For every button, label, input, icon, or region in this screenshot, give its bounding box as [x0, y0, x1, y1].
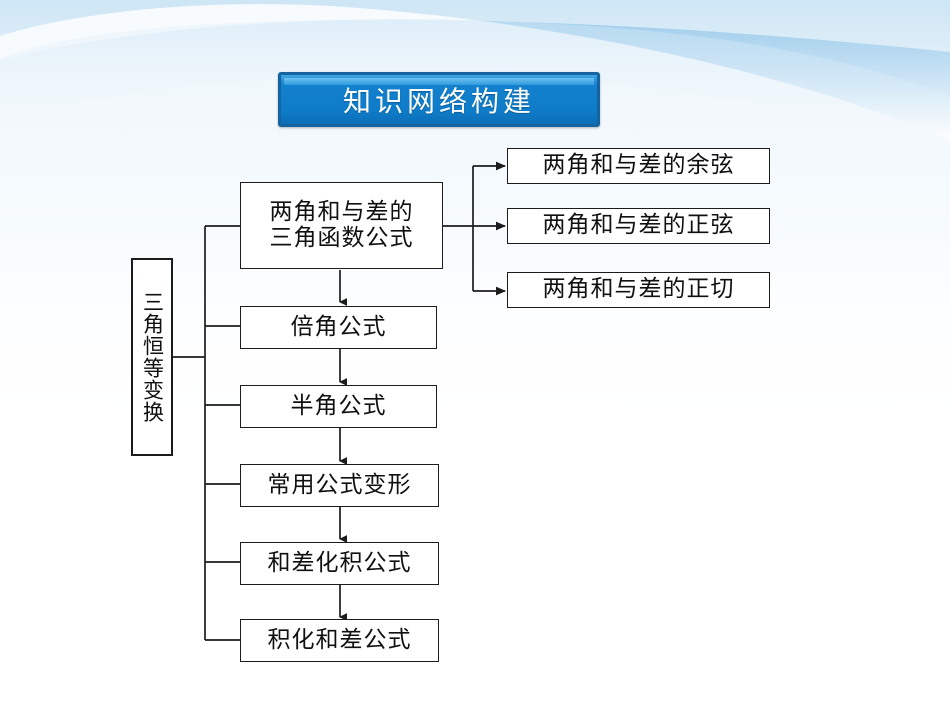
diagram-branch-sine-of-sum-difference[interactable]: 两角和与差的正弦	[507, 208, 770, 244]
diagram-node-trig-sum-difference-formulas[interactable]: 两角和与差的 三角函数公式	[240, 182, 443, 269]
node-label: 和差化积公式	[268, 551, 412, 577]
slide-canvas: 知识网络构建	[0, 0, 950, 713]
node-label: 两角和与差的正切	[543, 277, 735, 303]
diagram-branch-cosine-of-sum-difference[interactable]: 两角和与差的余弦	[507, 148, 770, 184]
node-label: 倍角公式	[291, 315, 387, 341]
diagram-node-product-to-sum-formula[interactable]: 积化和差公式	[240, 619, 439, 662]
diagram-node-half-angle-formula[interactable]: 半角公式	[240, 385, 437, 428]
diagram-node-sum-to-product-formula[interactable]: 和差化积公式	[240, 542, 439, 585]
node-label: 两角和与差的正弦	[543, 213, 735, 239]
diagram-node-double-angle-formula[interactable]: 倍角公式	[240, 306, 437, 349]
node-label: 积化和差公式	[268, 628, 412, 654]
diagram-node-common-formula-transformations[interactable]: 常用公式变形	[240, 464, 439, 507]
diagram-branch-tangent-of-sum-difference[interactable]: 两角和与差的正切	[507, 272, 770, 308]
page-title: 知识网络构建	[343, 80, 535, 120]
diagram-root-node[interactable]: 三角恒等变换	[131, 258, 173, 456]
node-label: 半角公式	[291, 394, 387, 420]
node-label: 常用公式变形	[268, 473, 412, 499]
node-label: 两角和与差的余弦	[543, 153, 735, 179]
diagram-root-label: 三角恒等变换	[142, 291, 163, 423]
node-label: 两角和与差的 三角函数公式	[270, 200, 414, 252]
